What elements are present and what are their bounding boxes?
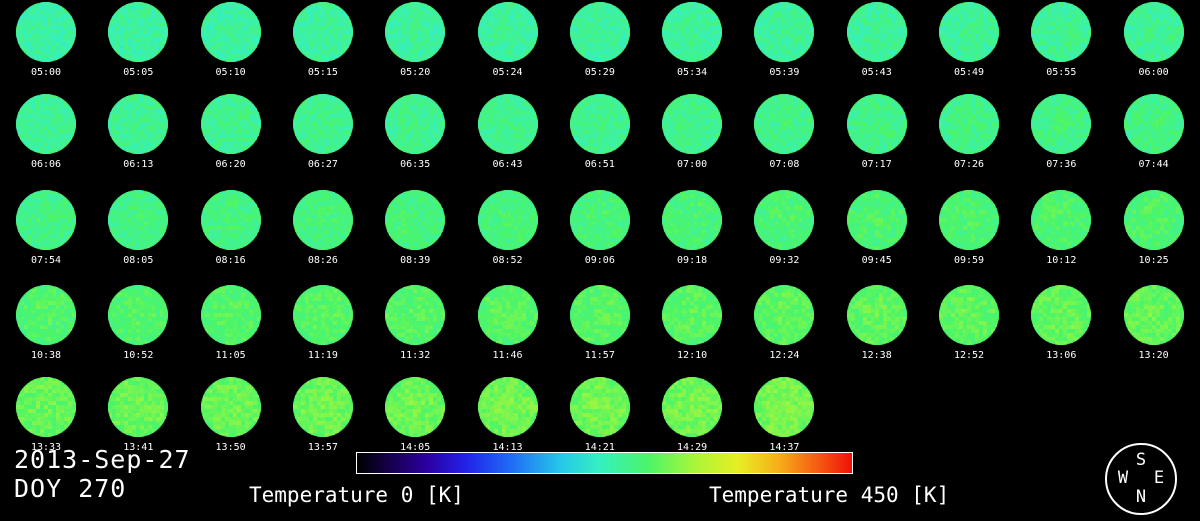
disk-row: 10:3810:5211:0511:1911:3211:4611:5712:10… <box>0 283 1200 373</box>
disk-timestamp: 08:05 <box>92 255 184 266</box>
disk-frame[interactable]: 07:17 <box>831 92 923 182</box>
disk-frame[interactable]: 07:36 <box>1015 92 1107 182</box>
disk-timestamp: 12:38 <box>831 350 923 361</box>
compass-label-east: E <box>1149 469 1169 487</box>
disk-timestamp: 06:13 <box>92 159 184 170</box>
disk-frame[interactable]: 11:05 <box>185 283 277 373</box>
disk-image-wrap <box>1124 190 1184 250</box>
figure-footer: 2013-Sep-27 DOY 270 Temperature 0 [K] Te… <box>0 439 1200 521</box>
disk-timestamp: 06:20 <box>185 159 277 170</box>
colorbar-max-label: Temperature 450 [K] <box>709 483 949 507</box>
disk-image-wrap <box>754 2 814 62</box>
disk-timestamp: 07:08 <box>738 159 830 170</box>
disk-image-wrap <box>662 190 722 250</box>
disk-frame[interactable]: 10:38 <box>0 283 92 373</box>
disk-image-wrap <box>570 94 630 154</box>
disk-timestamp: 09:32 <box>738 255 830 266</box>
thermal-disk-image <box>201 190 261 250</box>
observation-date: 2013-Sep-27 <box>14 445 191 474</box>
disk-timestamp: 05:34 <box>646 67 738 78</box>
disk-image-wrap <box>1031 285 1091 345</box>
thermal-disk-image <box>293 285 353 345</box>
disk-timestamp: 08:26 <box>277 255 369 266</box>
disk-frame[interactable]: 10:25 <box>1108 188 1200 278</box>
thermal-disk-image <box>1031 94 1091 154</box>
disk-frame[interactable]: 09:32 <box>738 188 830 278</box>
thermal-disk-image <box>754 285 814 345</box>
disk-frame[interactable]: 10:12 <box>1015 188 1107 278</box>
disk-frame[interactable]: 05:20 <box>369 0 461 90</box>
disk-image-wrap <box>939 190 999 250</box>
disk-image-wrap <box>108 2 168 62</box>
colorbar-min-label: Temperature 0 [K] <box>249 483 464 507</box>
compass-label-west: W <box>1113 469 1133 487</box>
disk-timestamp: 06:06 <box>0 159 92 170</box>
thermal-disk-image <box>662 94 722 154</box>
disk-image-wrap <box>1124 94 1184 154</box>
disk-image-wrap <box>478 285 538 345</box>
disk-frame[interactable]: 08:39 <box>369 188 461 278</box>
disk-image-wrap <box>847 94 907 154</box>
thermal-disk-image <box>939 285 999 345</box>
disk-frame[interactable]: 07:54 <box>0 188 92 278</box>
disk-timestamp: 11:19 <box>277 350 369 361</box>
disk-timestamp: 05:39 <box>738 67 830 78</box>
disk-frame[interactable]: 06:06 <box>0 92 92 182</box>
compass-label-south: S <box>1131 451 1151 469</box>
disk-timestamp: 06:27 <box>277 159 369 170</box>
disk-frame[interactable]: 11:46 <box>462 283 554 373</box>
disk-frame[interactable]: 05:55 <box>1015 0 1107 90</box>
disk-frame[interactable]: 11:32 <box>369 283 461 373</box>
disk-timestamp: 06:43 <box>462 159 554 170</box>
disk-image-wrap <box>939 285 999 345</box>
disk-timestamp: 08:52 <box>462 255 554 266</box>
disk-timestamp: 05:55 <box>1015 67 1107 78</box>
thermal-disk-image <box>1124 94 1184 154</box>
disk-frame[interactable]: 12:10 <box>646 283 738 373</box>
thermal-disk-image <box>385 2 445 62</box>
thermal-disk-image <box>847 190 907 250</box>
thermal-disk-image <box>478 190 538 250</box>
disk-image-wrap <box>570 285 630 345</box>
disk-image-wrap <box>385 377 445 437</box>
disk-image-wrap <box>385 2 445 62</box>
disk-image-wrap <box>662 285 722 345</box>
disk-frame[interactable]: 12:24 <box>738 283 830 373</box>
disk-frame[interactable]: 05:49 <box>923 0 1015 90</box>
disk-image-wrap <box>108 190 168 250</box>
disk-timestamp: 10:38 <box>0 350 92 361</box>
disk-timestamp: 06:51 <box>554 159 646 170</box>
disk-timestamp: 12:24 <box>738 350 830 361</box>
disk-image-wrap <box>16 94 76 154</box>
thermal-disk-image <box>662 285 722 345</box>
disk-image-wrap <box>478 94 538 154</box>
thermal-disk-image <box>201 377 261 437</box>
disk-image-wrap <box>385 285 445 345</box>
thermal-disk-image <box>201 94 261 154</box>
disk-timestamp: 05:24 <box>462 67 554 78</box>
thermal-disk-image <box>662 377 722 437</box>
thermal-disk-image <box>293 377 353 437</box>
thermal-disk-image <box>1124 285 1184 345</box>
disk-frame[interactable]: 09:18 <box>646 188 738 278</box>
disk-frame[interactable]: 08:16 <box>185 188 277 278</box>
disk-timestamp: 10:12 <box>1015 255 1107 266</box>
disk-timestamp: 12:10 <box>646 350 738 361</box>
disk-frame[interactable]: 08:05 <box>92 188 184 278</box>
disk-timestamp: 07:36 <box>1015 159 1107 170</box>
thermal-disk-image <box>478 377 538 437</box>
thermal-disk-image <box>570 285 630 345</box>
disk-image-wrap <box>293 377 353 437</box>
thermal-disk-image <box>478 94 538 154</box>
thermal-disk-image <box>1124 190 1184 250</box>
thermal-disk-image <box>570 190 630 250</box>
disk-image-wrap <box>847 285 907 345</box>
thermal-disk-image <box>108 190 168 250</box>
thermal-disk-image <box>385 94 445 154</box>
disk-frame[interactable]: 06:13 <box>92 92 184 182</box>
disk-frame[interactable]: 07:00 <box>646 92 738 182</box>
thermal-disk-image <box>108 94 168 154</box>
disk-frame[interactable]: 05:05 <box>92 0 184 90</box>
compass-rose: S E N W <box>1105 443 1177 515</box>
disk-row: 05:0005:0505:1005:1505:2005:2405:2905:34… <box>0 0 1200 90</box>
disk-image-wrap <box>1031 2 1091 62</box>
thermal-disk-image <box>939 190 999 250</box>
disk-timestamp: 09:59 <box>923 255 1015 266</box>
disk-image-wrap <box>754 94 814 154</box>
thermal-disk-image <box>570 2 630 62</box>
thermal-disk-image <box>16 2 76 62</box>
disk-timestamp: 08:16 <box>185 255 277 266</box>
day-of-year: DOY 270 <box>14 474 191 503</box>
thermal-disk-image <box>16 285 76 345</box>
thermal-disk-image <box>754 190 814 250</box>
disk-frame[interactable]: 13:20 <box>1108 283 1200 373</box>
disk-image-wrap <box>201 285 261 345</box>
disk-image-wrap <box>478 2 538 62</box>
thermal-disk-image <box>16 94 76 154</box>
disk-timestamp: 07:54 <box>0 255 92 266</box>
disk-frame[interactable]: 10:52 <box>92 283 184 373</box>
disk-timestamp: 07:44 <box>1108 159 1200 170</box>
thermal-disk-image <box>293 190 353 250</box>
disk-frame[interactable]: 11:19 <box>277 283 369 373</box>
disk-image-wrap <box>754 377 814 437</box>
disk-timestamp: 10:52 <box>92 350 184 361</box>
disk-frame[interactable]: 09:59 <box>923 188 1015 278</box>
disk-image-wrap <box>16 190 76 250</box>
disk-image-wrap <box>293 285 353 345</box>
temperature-colorbar <box>356 452 853 474</box>
disk-frame[interactable]: 09:45 <box>831 188 923 278</box>
disk-image-wrap <box>16 377 76 437</box>
disk-frame[interactable]: 05:00 <box>0 0 92 90</box>
disk-image-wrap <box>939 2 999 62</box>
disk-timestamp: 11:05 <box>185 350 277 361</box>
disk-image-wrap <box>293 190 353 250</box>
disk-image-wrap <box>847 190 907 250</box>
disk-frame[interactable]: 07:08 <box>738 92 830 182</box>
disk-frame[interactable]: 08:52 <box>462 188 554 278</box>
disk-frame[interactable]: 05:24 <box>462 0 554 90</box>
disk-image-wrap <box>293 94 353 154</box>
disk-frame[interactable]: 06:35 <box>369 92 461 182</box>
disk-image-wrap <box>108 94 168 154</box>
thermal-disk-image <box>385 285 445 345</box>
disk-frame[interactable]: 06:20 <box>185 92 277 182</box>
thermal-disk-image <box>293 94 353 154</box>
disk-frame[interactable]: 13:06 <box>1015 283 1107 373</box>
disk-timestamp: 13:06 <box>1015 350 1107 361</box>
disk-frame[interactable]: 05:29 <box>554 0 646 90</box>
disk-image-wrap <box>108 377 168 437</box>
disk-frame[interactable]: 08:26 <box>277 188 369 278</box>
disk-image-wrap <box>108 285 168 345</box>
disk-timestamp: 05:43 <box>831 67 923 78</box>
disk-timestamp: 09:06 <box>554 255 646 266</box>
thermal-disk-image <box>385 190 445 250</box>
disk-timestamp: 09:18 <box>646 255 738 266</box>
compass-label-north: N <box>1131 488 1151 506</box>
disk-timestamp: 08:39 <box>369 255 461 266</box>
thermal-montage-figure: 05:0005:0505:1005:1505:2005:2405:2905:34… <box>0 0 1200 521</box>
disk-row: 06:0606:1306:2006:2706:3506:4306:5107:00… <box>0 92 1200 182</box>
thermal-disk-image <box>662 190 722 250</box>
disk-timestamp: 13:20 <box>1108 350 1200 361</box>
disk-timestamp: 05:00 <box>0 67 92 78</box>
thermal-disk-image <box>108 285 168 345</box>
thermal-disk-image <box>754 377 814 437</box>
thermal-disk-image <box>478 285 538 345</box>
disk-timestamp: 05:29 <box>554 67 646 78</box>
thermal-disk-image <box>847 2 907 62</box>
thermal-disk-image <box>16 190 76 250</box>
disk-timestamp: 10:25 <box>1108 255 1200 266</box>
disk-image-wrap <box>570 377 630 437</box>
disk-frame[interactable]: 05:34 <box>646 0 738 90</box>
thermal-disk-image <box>108 2 168 62</box>
disk-timestamp: 09:45 <box>831 255 923 266</box>
disk-image-wrap <box>16 285 76 345</box>
disk-image-wrap <box>201 377 261 437</box>
disk-frame[interactable]: 06:00 <box>1108 0 1200 90</box>
disk-frame[interactable]: 12:52 <box>923 283 1015 373</box>
thermal-disk-image <box>939 2 999 62</box>
disk-image-wrap <box>385 190 445 250</box>
disk-image-wrap <box>939 94 999 154</box>
disk-frame[interactable]: 06:51 <box>554 92 646 182</box>
disk-timestamp: 06:35 <box>369 159 461 170</box>
disk-timestamp: 07:26 <box>923 159 1015 170</box>
thermal-disk-image <box>201 2 261 62</box>
disk-timestamp: 11:32 <box>369 350 461 361</box>
thermal-disk-image <box>1031 190 1091 250</box>
disk-timestamp: 12:52 <box>923 350 1015 361</box>
disk-image-wrap <box>570 2 630 62</box>
disk-image-wrap <box>1124 285 1184 345</box>
disk-image-wrap <box>662 2 722 62</box>
disk-image-wrap <box>293 2 353 62</box>
thermal-disk-image <box>478 2 538 62</box>
thermal-disk-image <box>293 2 353 62</box>
disk-frame[interactable]: 12:38 <box>831 283 923 373</box>
thermal-disk-image <box>570 377 630 437</box>
disk-frame[interactable]: 05:15 <box>277 0 369 90</box>
disk-timestamp: 11:57 <box>554 350 646 361</box>
disk-frame[interactable]: 05:43 <box>831 0 923 90</box>
disk-image-wrap <box>201 2 261 62</box>
disk-image-wrap <box>754 285 814 345</box>
disk-timestamp: 05:15 <box>277 67 369 78</box>
disk-image-wrap <box>385 94 445 154</box>
disk-frame[interactable]: 07:26 <box>923 92 1015 182</box>
thermal-disk-image <box>662 2 722 62</box>
disk-row: 07:5408:0508:1608:2608:3908:5209:0609:18… <box>0 188 1200 278</box>
disk-timestamp: 06:00 <box>1108 67 1200 78</box>
disk-frame[interactable]: 09:06 <box>554 188 646 278</box>
disk-image-wrap <box>1031 190 1091 250</box>
disk-image-wrap <box>201 94 261 154</box>
disk-image-wrap <box>847 2 907 62</box>
disk-frame[interactable]: 06:27 <box>277 92 369 182</box>
disk-image-wrap <box>478 190 538 250</box>
disk-timestamp: 11:46 <box>462 350 554 361</box>
thermal-disk-image <box>754 2 814 62</box>
disk-montage-grid: 05:0005:0505:1005:1505:2005:2405:2905:34… <box>0 0 1200 450</box>
thermal-disk-image <box>847 285 907 345</box>
thermal-disk-image <box>1124 2 1184 62</box>
thermal-disk-image <box>847 94 907 154</box>
disk-image-wrap <box>662 94 722 154</box>
disk-image-wrap <box>1124 2 1184 62</box>
disk-timestamp: 05:05 <box>92 67 184 78</box>
disk-image-wrap <box>754 190 814 250</box>
disk-frame[interactable]: 07:44 <box>1108 92 1200 182</box>
disk-frame[interactable]: 06:43 <box>462 92 554 182</box>
disk-frame[interactable]: 11:57 <box>554 283 646 373</box>
thermal-disk-image <box>1031 2 1091 62</box>
disk-image-wrap <box>570 190 630 250</box>
disk-timestamp: 05:20 <box>369 67 461 78</box>
thermal-disk-image <box>385 377 445 437</box>
thermal-disk-image <box>570 94 630 154</box>
disk-timestamp: 07:17 <box>831 159 923 170</box>
thermal-disk-image <box>16 377 76 437</box>
disk-image-wrap <box>1031 94 1091 154</box>
colorbar-group <box>356 452 853 474</box>
disk-timestamp: 05:49 <box>923 67 1015 78</box>
disk-timestamp: 05:10 <box>185 67 277 78</box>
thermal-disk-image <box>108 377 168 437</box>
thermal-disk-image <box>754 94 814 154</box>
thermal-disk-image <box>201 285 261 345</box>
disk-timestamp: 07:00 <box>646 159 738 170</box>
disk-image-wrap <box>16 2 76 62</box>
disk-frame[interactable]: 05:39 <box>738 0 830 90</box>
observation-date-block: 2013-Sep-27 DOY 270 <box>14 445 191 503</box>
thermal-disk-image <box>939 94 999 154</box>
disk-frame[interactable]: 05:10 <box>185 0 277 90</box>
disk-image-wrap <box>201 190 261 250</box>
disk-image-wrap <box>478 377 538 437</box>
thermal-disk-image <box>1031 285 1091 345</box>
disk-image-wrap <box>662 377 722 437</box>
